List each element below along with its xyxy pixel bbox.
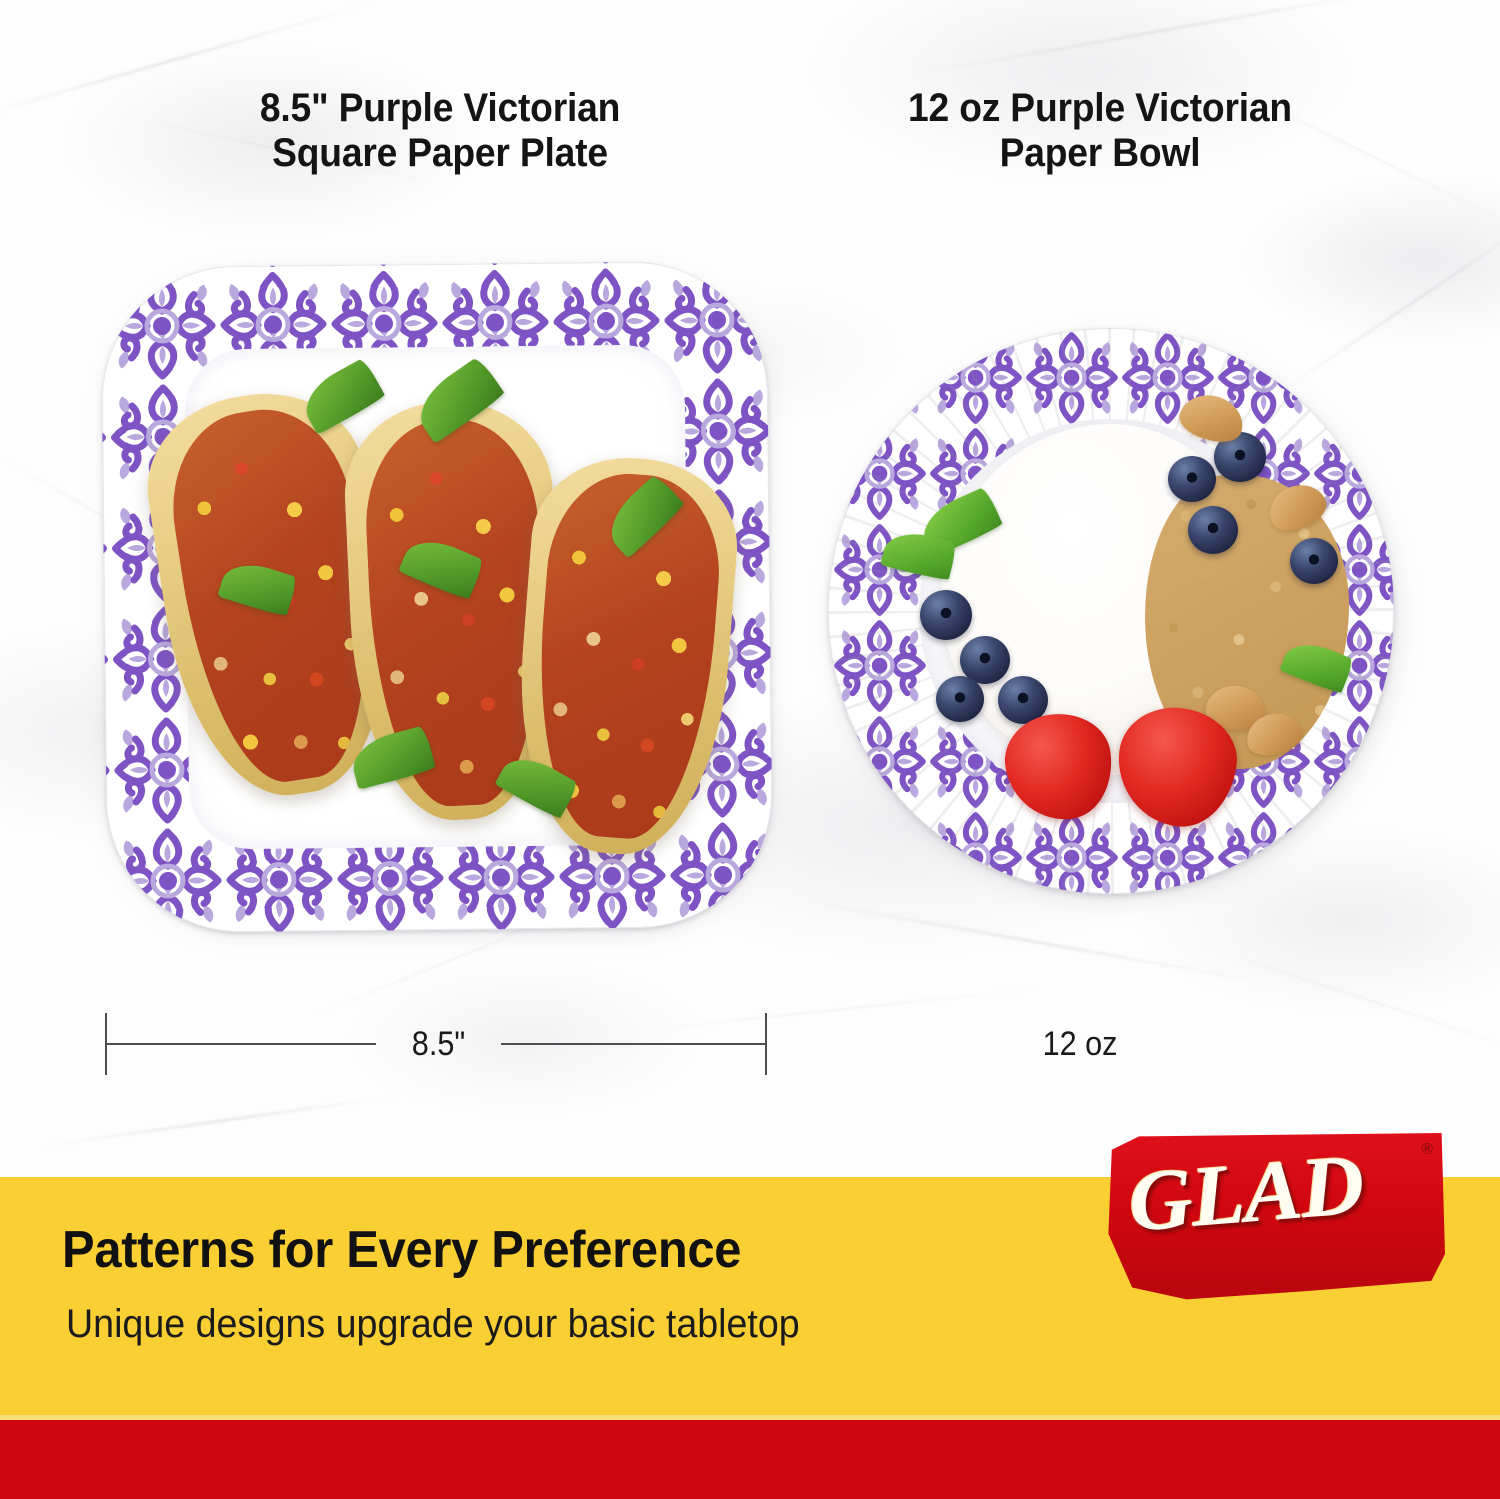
product-image-square-paper-plate xyxy=(104,264,772,932)
dimension-bar-left xyxy=(106,1043,376,1045)
bowl-heading-line-1: 12 oz Purple Victorian xyxy=(812,86,1389,131)
glad-logo: ® GLAD xyxy=(1105,1133,1445,1301)
plate-heading-line-1: 8.5" Purple Victorian xyxy=(152,86,729,131)
blueberry xyxy=(936,676,984,722)
product-infographic: 8.5" Purple Victorian Square Paper Plate… xyxy=(0,0,1500,1499)
blueberry xyxy=(1188,506,1238,554)
square-plate xyxy=(101,261,774,934)
banner-title: Patterns for Every Preference xyxy=(62,1224,1011,1277)
dimension-label-bowl: 12 oz xyxy=(972,1019,1188,1069)
bottom-red-bar xyxy=(0,1420,1500,1499)
blueberry xyxy=(1290,538,1338,584)
banner-subtitle: Unique designs upgrade your basic tablet… xyxy=(66,1302,1034,1346)
blueberry xyxy=(1168,456,1216,502)
dimension-callout-bowl: 12 oz xyxy=(960,1013,1200,1075)
bowl-heading-line-2: Paper Bowl xyxy=(812,131,1389,176)
product-image-paper-bowl xyxy=(828,328,1400,900)
dimension-callout-plate: 8.5" xyxy=(105,1013,767,1075)
product-heading-plate: 8.5" Purple Victorian Square Paper Plate xyxy=(152,86,729,176)
dimension-label-plate: 8.5" xyxy=(382,1019,495,1069)
round-bowl xyxy=(828,328,1394,894)
plate-heading-line-2: Square Paper Plate xyxy=(152,131,729,176)
product-heading-bowl: 12 oz Purple Victorian Paper Bowl xyxy=(812,86,1389,176)
blueberry xyxy=(920,590,972,640)
dimension-bar-right xyxy=(501,1043,766,1045)
